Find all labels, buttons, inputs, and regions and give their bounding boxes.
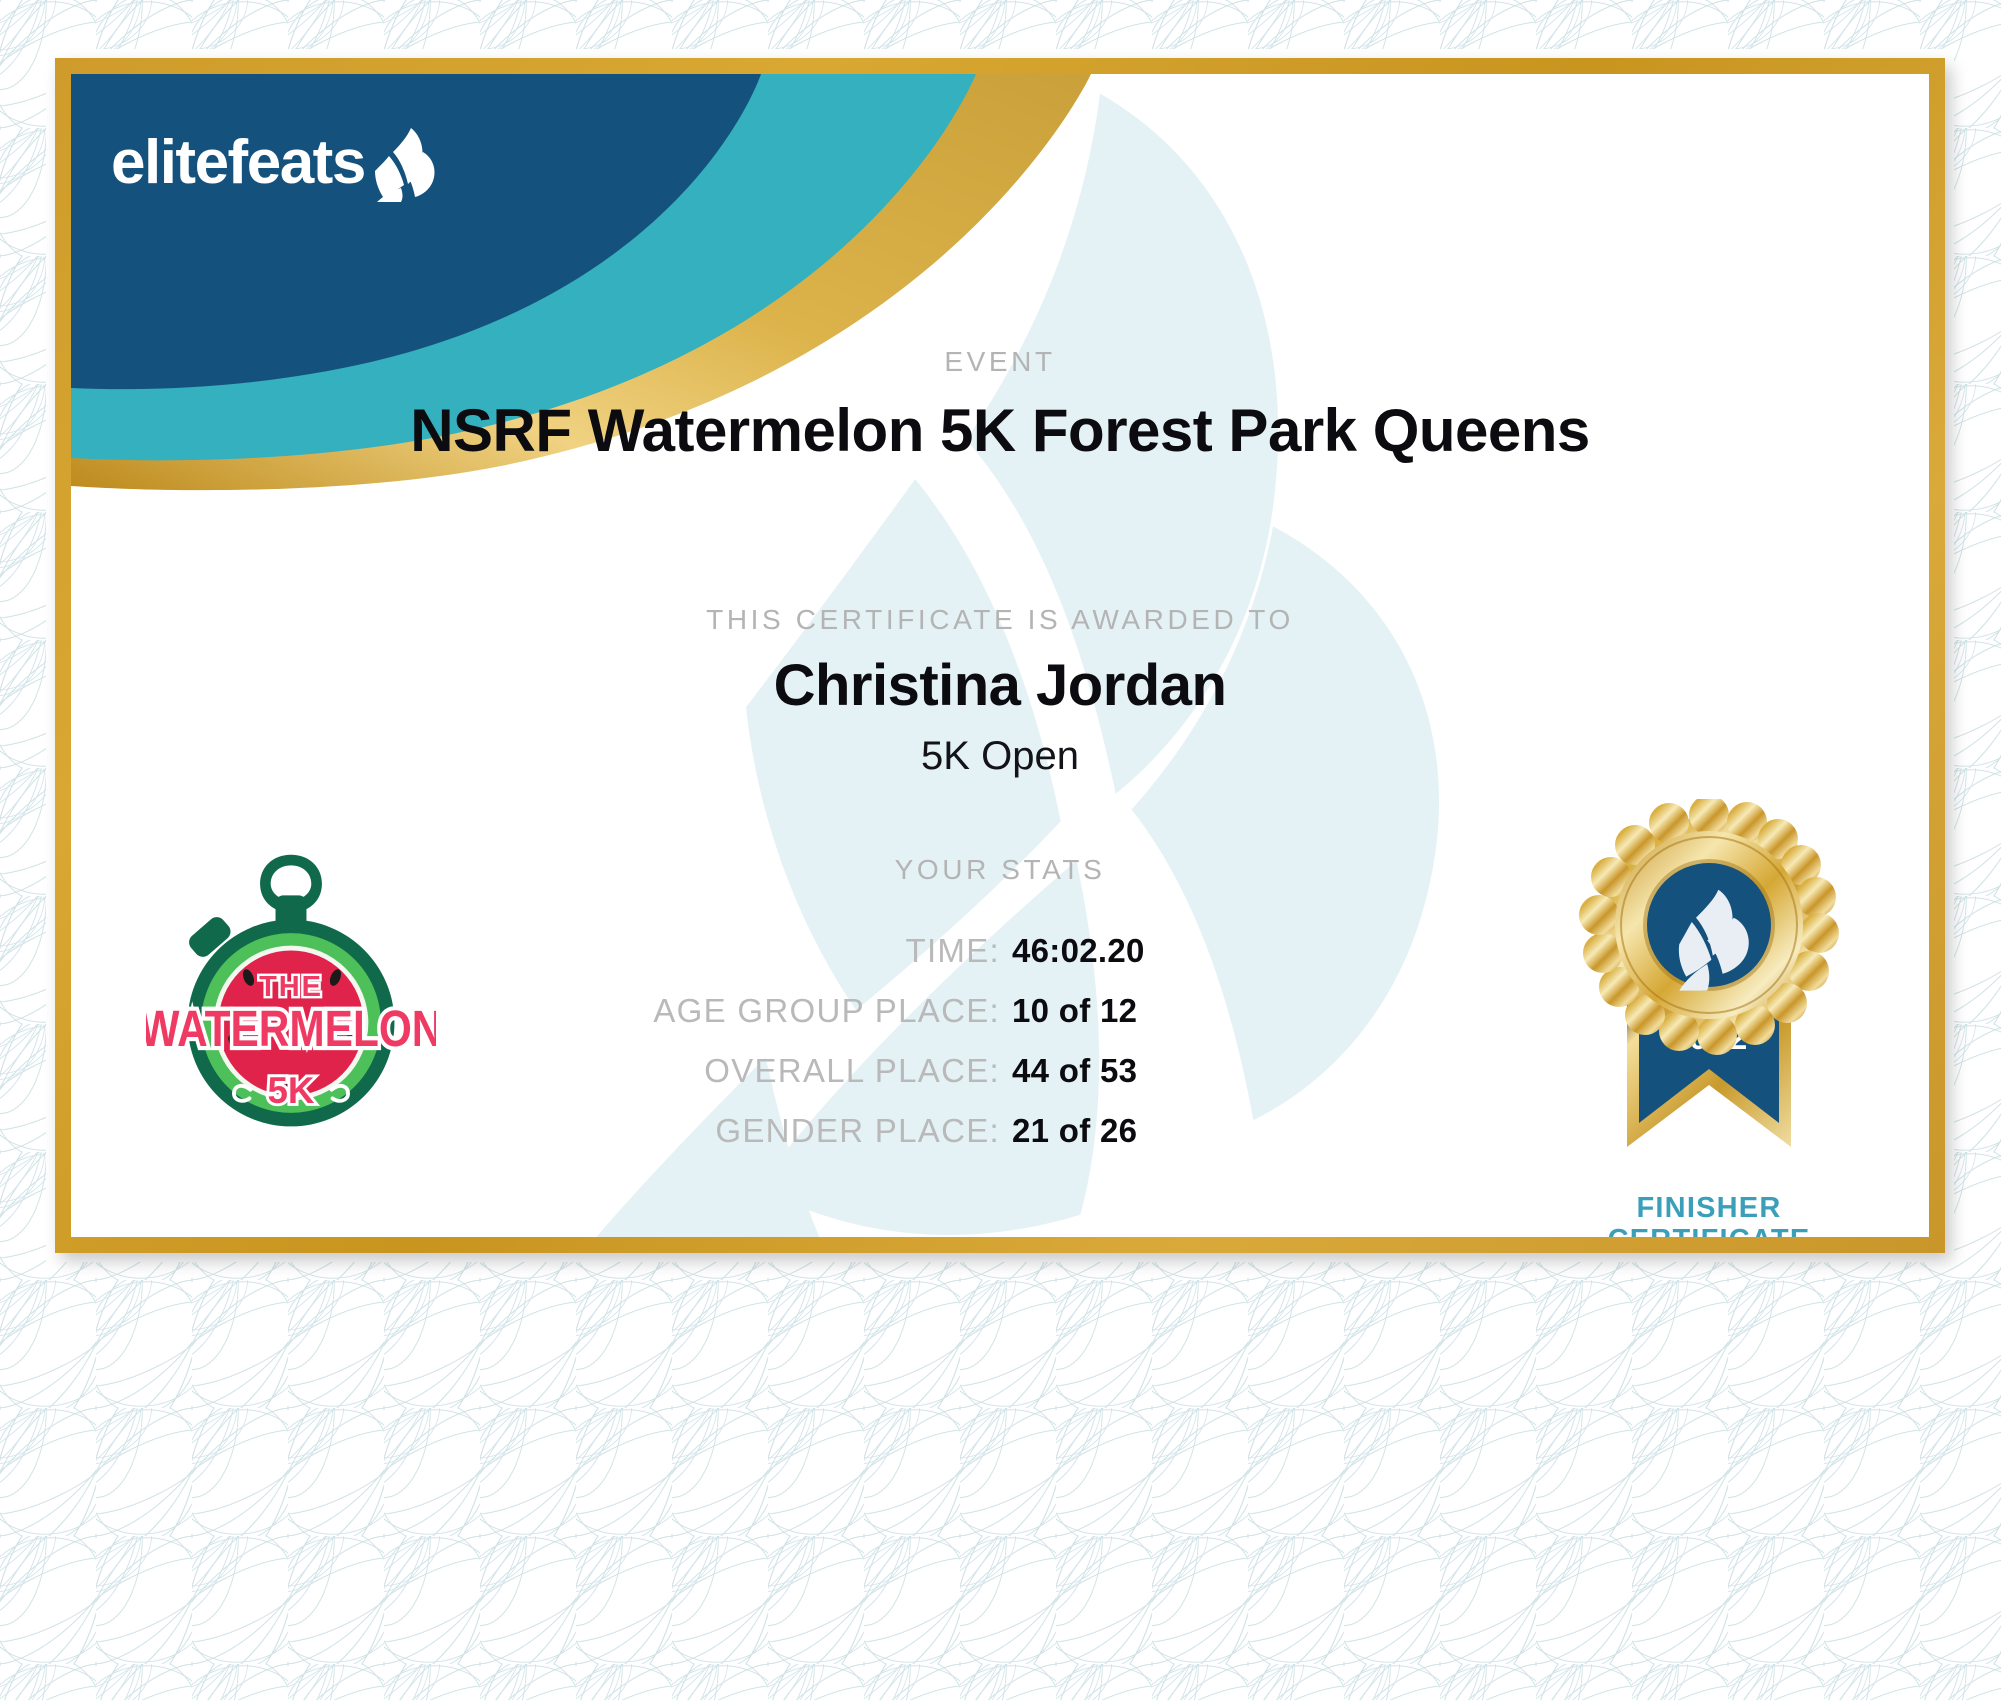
stat-key: TIME: [438,932,1000,970]
badge-caption: FINISHER CERTIFICATE [1549,1192,1869,1237]
stat-value: 10 of 12 [1000,992,1562,1030]
certificate-page: elitefeats EVENT NSRF Watermelon 5K Fore… [0,0,2001,1700]
badge-caption-line1: FINISHER [1549,1192,1869,1224]
stat-value: 46:02.20 [1000,932,1562,970]
recipient-division: 5K Open [71,734,1929,779]
badge-caption-line2: CERTIFICATE [1549,1224,1869,1237]
gold-border-frame: elitefeats EVENT NSRF Watermelon 5K Fore… [55,58,1945,1253]
event-label: EVENT [71,346,1929,378]
stat-key: AGE GROUP PLACE: [438,992,1000,1030]
finisher-badge: 2022 [1549,799,1869,1237]
event-logo-wordmark: WATERMELON [146,1000,436,1056]
stat-key: GENDER PLACE: [438,1112,1000,1150]
stat-value: 21 of 26 [1000,1112,1562,1150]
winged-foot-icon [367,126,439,202]
certificate-card: elitefeats EVENT NSRF Watermelon 5K Fore… [71,74,1929,1237]
brand-logo: elitefeats [111,132,439,202]
stat-value: 44 of 53 [1000,1052,1562,1090]
watermelon-5k-event-logo: THE WATERMELON 5K [146,849,436,1139]
certificate-content: EVENT NSRF Watermelon 5K Forest Park Que… [71,74,1929,1237]
brand-wordmark: elitefeats [111,132,365,194]
stat-key: OVERALL PLACE: [438,1052,1000,1090]
event-title: NSRF Watermelon 5K Forest Park Queens [71,396,1929,465]
event-logo-distance: 5K [268,1070,315,1111]
event-logo-the: THE [259,971,323,1003]
finisher-medal-icon: 2022 [1549,799,1869,1179]
awarded-to-label: THIS CERTIFICATE IS AWARDED TO [71,604,1929,636]
recipient-name: Christina Jordan [71,652,1929,719]
